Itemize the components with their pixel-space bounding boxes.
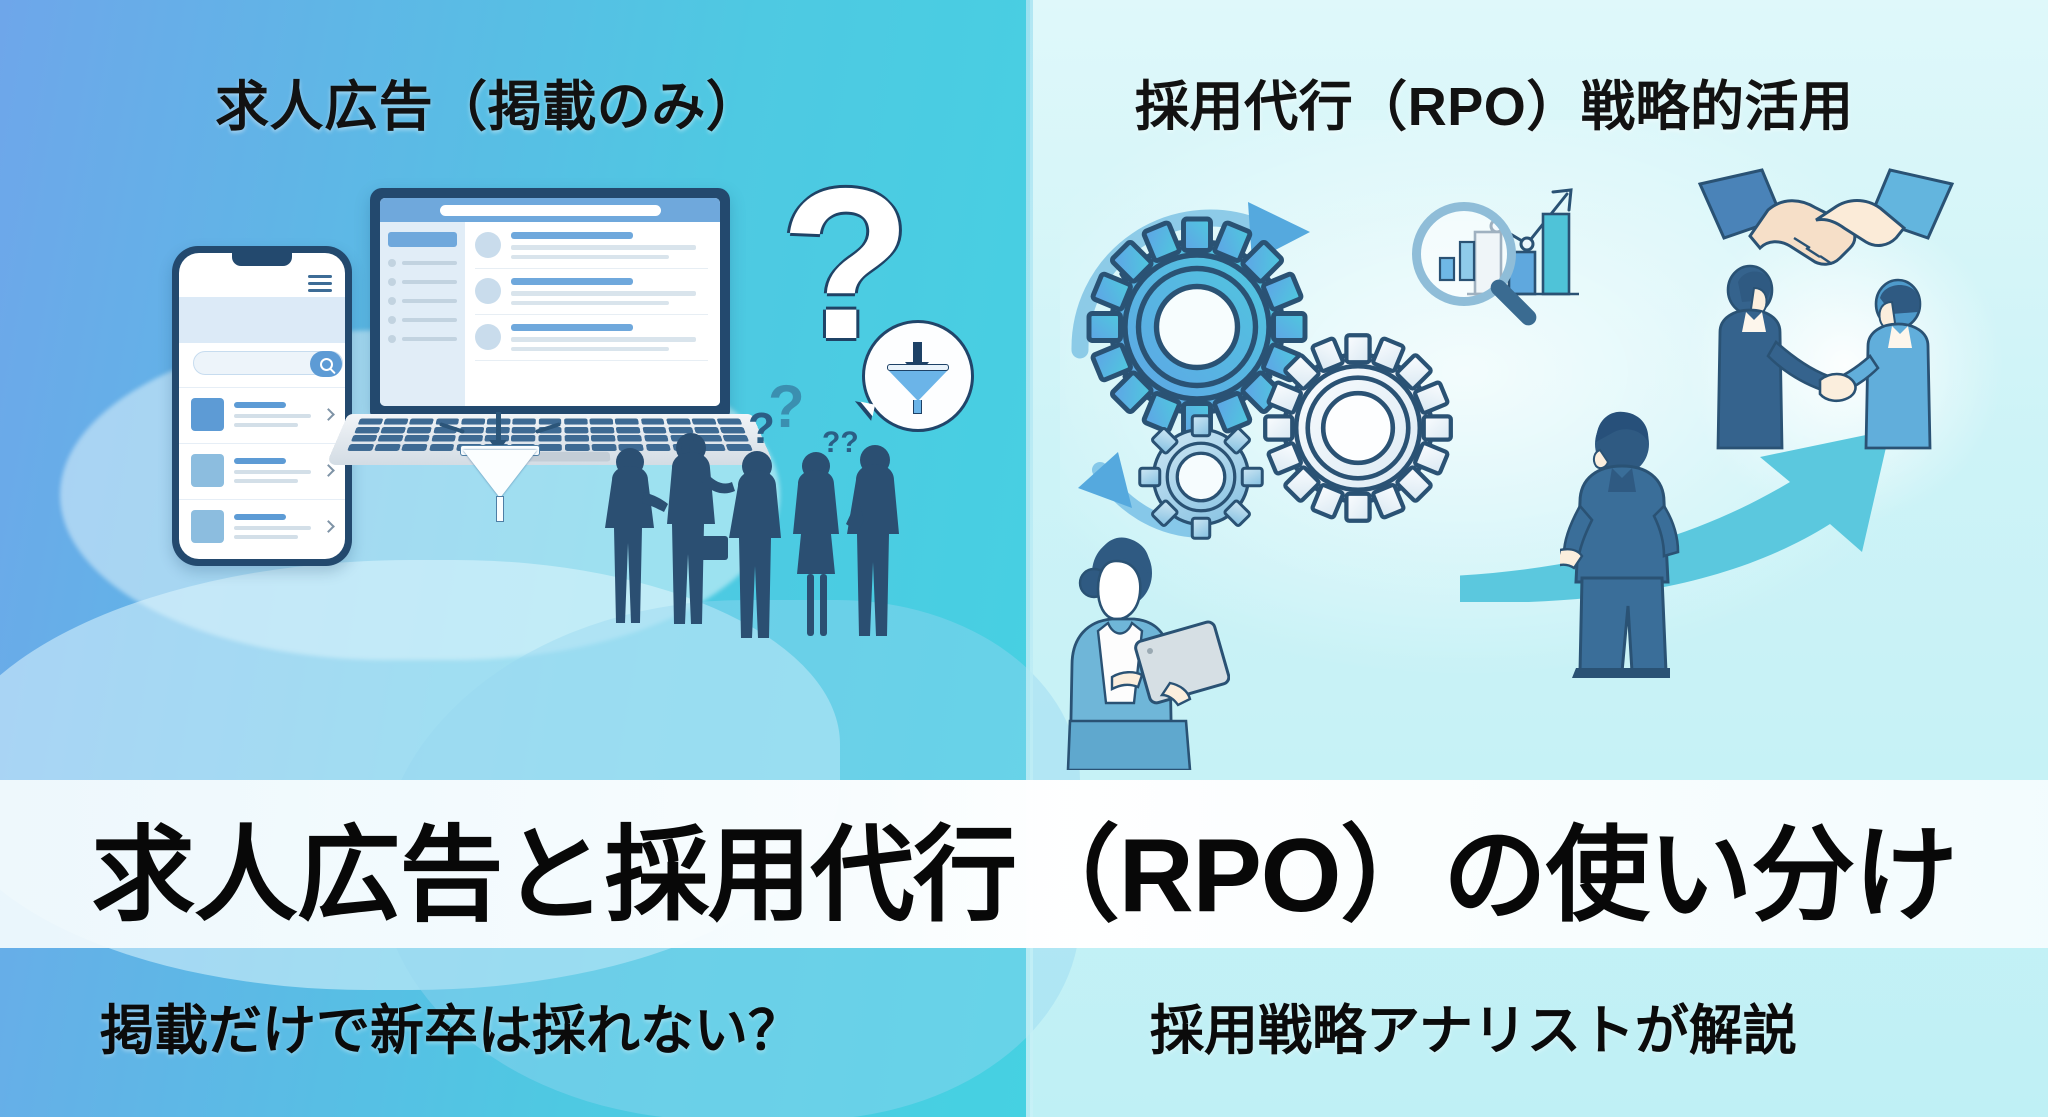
right-illustration — [1030, 150, 2048, 770]
job-seeker-silhouettes: ? ?? — [590, 418, 920, 638]
search-icon[interactable] — [310, 351, 342, 377]
result-text — [511, 278, 708, 305]
list-item[interactable] — [179, 387, 345, 441]
sidebar-item[interactable] — [388, 316, 457, 324]
smartphone-mockup — [172, 246, 352, 566]
result-avatar — [475, 232, 501, 258]
list-item[interactable] — [179, 499, 345, 553]
banner-stage: 求人広告（掲載のみ） 採用代行（RPO）戦略的活用 — [0, 0, 2048, 1117]
bubble-funnel-cone — [889, 371, 947, 401]
phone-screen — [179, 253, 345, 559]
chevron-right-icon — [322, 408, 335, 421]
funnel-down-arrow — [496, 412, 501, 442]
funnel-stem — [496, 496, 504, 522]
analyst-with-tablet — [1050, 525, 1230, 770]
sidebar-item[interactable] — [388, 335, 457, 343]
phone-notch — [232, 253, 292, 266]
funnel-icon — [455, 428, 545, 524]
sidebar-item[interactable] — [388, 259, 457, 267]
search-input[interactable] — [193, 351, 343, 375]
result-item[interactable] — [475, 278, 708, 315]
result-item[interactable] — [475, 324, 708, 361]
bubble-funnel-stem — [913, 400, 922, 414]
browser-toolbar — [380, 198, 720, 222]
result-avatar — [475, 278, 501, 304]
laptop-lid — [370, 188, 730, 416]
magnified-bars — [1434, 224, 1496, 286]
result-item[interactable] — [475, 232, 708, 269]
thought-dots: ?? — [822, 426, 859, 460]
phone-header-bar — [179, 297, 345, 343]
list-item-text — [234, 458, 318, 483]
result-avatar — [475, 324, 501, 350]
list-item-thumbnail — [191, 510, 224, 543]
left-illustration: ? ? — [0, 150, 1030, 770]
question-mark-icon: ? — [780, 178, 911, 350]
list-item-text — [234, 402, 318, 427]
sidebar-item[interactable] — [388, 297, 457, 305]
laptop-screen — [380, 198, 720, 406]
funnel-down-arrow-icon — [862, 320, 974, 432]
chevron-right-icon — [322, 520, 335, 533]
sidebar-item[interactable] — [388, 278, 457, 286]
right-panel-subtitle: 採用戦略アナリストが解説 — [1150, 986, 1797, 1065]
site-sidebar — [380, 222, 465, 406]
page-title: 求人広告と採用代行（RPO）の使い分け — [0, 790, 2048, 940]
results-list — [465, 222, 720, 406]
gear-medium-icon — [1242, 312, 1474, 544]
thought-question-mark: ? — [748, 404, 775, 454]
right-panel-header: 採用代行（RPO）戦略的活用 — [1135, 62, 1854, 141]
chevron-right-icon — [322, 464, 335, 477]
business-partners-handshake — [1702, 260, 1962, 450]
hamburger-menu-icon[interactable] — [308, 275, 332, 292]
result-text — [511, 232, 708, 259]
left-panel-subtitle: 掲載だけで新卒は採れない？ — [100, 986, 802, 1065]
sidebar-header — [388, 232, 457, 247]
bubble-down-arrow — [913, 342, 922, 364]
funnel-cone — [463, 450, 537, 498]
result-text — [511, 324, 708, 351]
left-panel-header: 求人広告（掲載のみ） — [215, 62, 760, 141]
bubble-funnel-rim — [887, 364, 949, 371]
list-item-thumbnail — [191, 398, 224, 431]
list-item-text — [234, 514, 318, 539]
url-bar[interactable] — [440, 205, 661, 216]
list-item-thumbnail — [191, 454, 224, 487]
list-item[interactable] — [179, 443, 345, 497]
consultant-presenting — [1560, 410, 1690, 680]
